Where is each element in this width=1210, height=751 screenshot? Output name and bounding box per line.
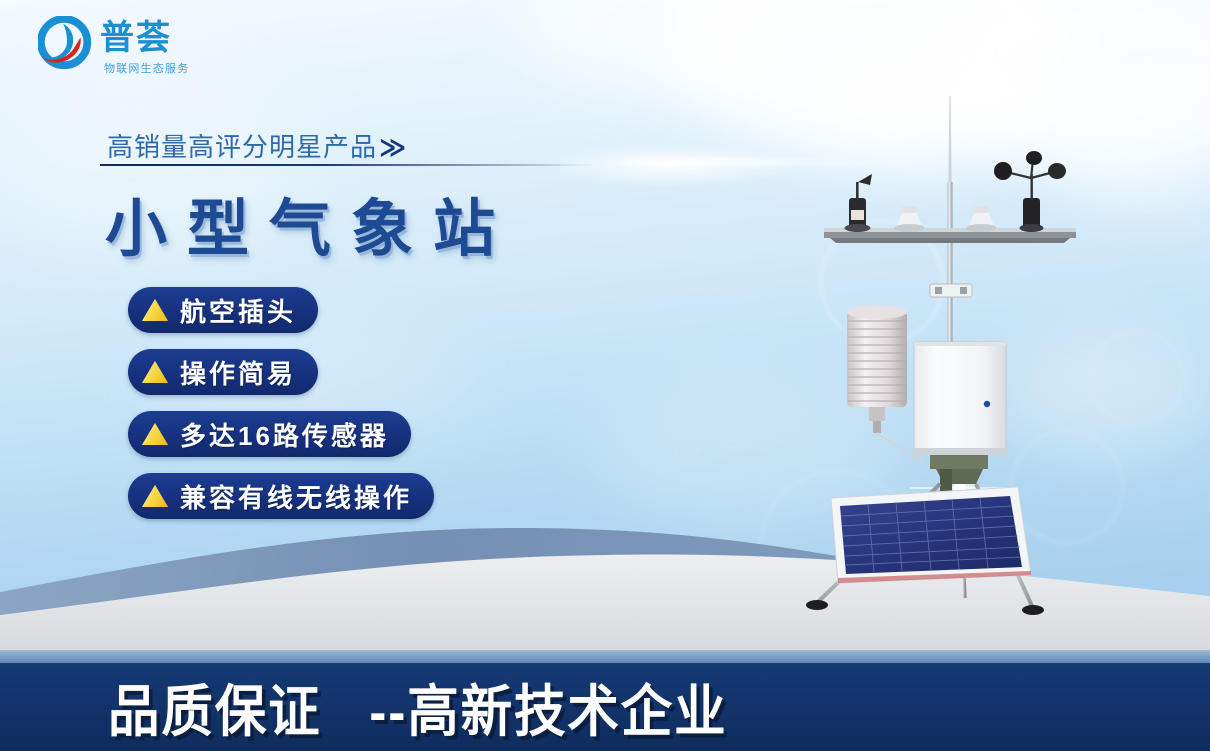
weather-station-product-image <box>790 86 1130 646</box>
banner-right-text: --高新技术企业 <box>369 680 727 743</box>
banner-left-text: 品质保证 <box>108 680 321 743</box>
headline-divider <box>100 164 680 166</box>
mast-clamp <box>930 284 972 297</box>
bottom-banner: 品质保证--高新技术企业 <box>0 663 1210 751</box>
feature-pill[interactable]: 多达16路传感器 <box>128 411 411 457</box>
triangle-bullet-icon <box>142 361 168 383</box>
triangle-bullet-icon <box>142 423 168 445</box>
triangle-bullet-icon <box>142 299 168 321</box>
feature-label: 多达16路传感器 <box>180 416 389 453</box>
solar-panel <box>831 487 1031 583</box>
feature-label: 航空插头 <box>180 292 296 329</box>
banner-top-strip <box>0 650 1210 663</box>
circle-swoosh-logo-icon <box>38 16 96 74</box>
feature-pill[interactable]: 兼容有线无线操作 <box>128 473 434 519</box>
rain-gauge-sensor <box>967 206 997 232</box>
brand-tagline: 物联网生态服务 <box>104 60 189 76</box>
anemometer-cups-sensor <box>994 151 1066 232</box>
product-poster: 普荟 物联网生态服务 高销量高评分明星产品≫ 小型气象站 航空插头 操作简易 多… <box>0 0 1210 751</box>
eyebrow-text: 高销量高评分明星产品≫ <box>107 127 407 164</box>
triangle-bullet-icon <box>142 485 168 507</box>
rain-gauge-sensor <box>895 206 925 232</box>
controller-enclosure-box <box>914 342 1006 491</box>
feature-pill[interactable]: 航空插头 <box>128 287 318 333</box>
chevron-right-icon: ≫ <box>379 132 407 162</box>
banner-text: 品质保证--高新技术企业 <box>108 667 727 748</box>
brand-name: 普荟 <box>100 18 172 58</box>
page-title: 小型气象站 <box>105 178 515 268</box>
feature-list: 航空插头 操作简易 多达16路传感器 兼容有线无线操作 <box>128 287 434 535</box>
wind-vane-sensor <box>845 174 873 232</box>
feature-pill[interactable]: 操作简易 <box>128 349 318 395</box>
eyebrow-label: 高销量高评分明星产品 <box>107 132 377 162</box>
feature-label: 操作简易 <box>180 354 296 391</box>
feature-label: 兼容有线无线操作 <box>180 478 412 515</box>
brand-logo[interactable]: 普荟 物联网生态服务 <box>38 12 248 84</box>
